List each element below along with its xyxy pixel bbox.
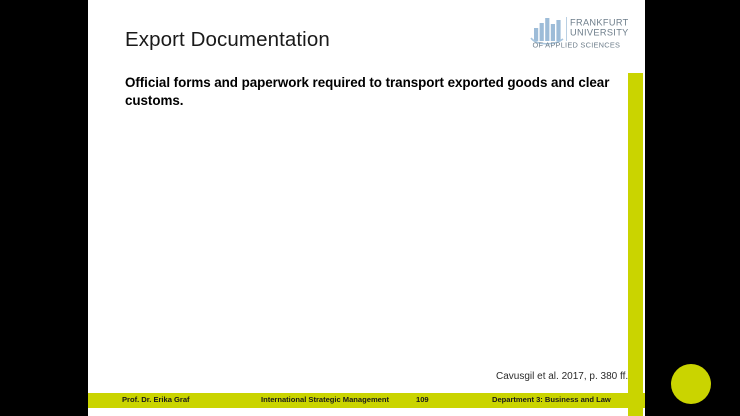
university-logo: FRANKFURT UNIVERSITY OF APPLIED SCIENCES bbox=[530, 14, 628, 50]
yellow-dot-decoration bbox=[671, 364, 711, 404]
footer-page-number: 109 bbox=[416, 395, 429, 404]
slide-body-text: Official forms and paperwork required to… bbox=[125, 74, 610, 109]
page-title: Export Documentation bbox=[125, 29, 330, 52]
yellow-accent-bar bbox=[628, 73, 643, 416]
footer-course-title: International Strategic Management bbox=[261, 395, 389, 404]
slide-viewer: Export Documentation Official forms and … bbox=[0, 0, 740, 416]
presentation-slide: Export Documentation Official forms and … bbox=[88, 0, 645, 416]
svg-text:OF APPLIED SCIENCES: OF APPLIED SCIENCES bbox=[533, 41, 621, 50]
slide-footer: Prof. Dr. Erika Graf International Strat… bbox=[88, 393, 645, 408]
svg-text:FRANKFURT: FRANKFURT bbox=[570, 18, 628, 28]
footer-author: Prof. Dr. Erika Graf bbox=[122, 395, 190, 404]
footer-department: Department 3: Business and Law bbox=[492, 395, 611, 404]
frankfurt-uas-bars-mark: FRANKFURT UNIVERSITY OF APPLIED SCIENCES bbox=[530, 14, 628, 50]
source-citation: Cavusgil et al. 2017, p. 380 ff. bbox=[496, 371, 628, 382]
svg-text:UNIVERSITY: UNIVERSITY bbox=[570, 28, 628, 38]
